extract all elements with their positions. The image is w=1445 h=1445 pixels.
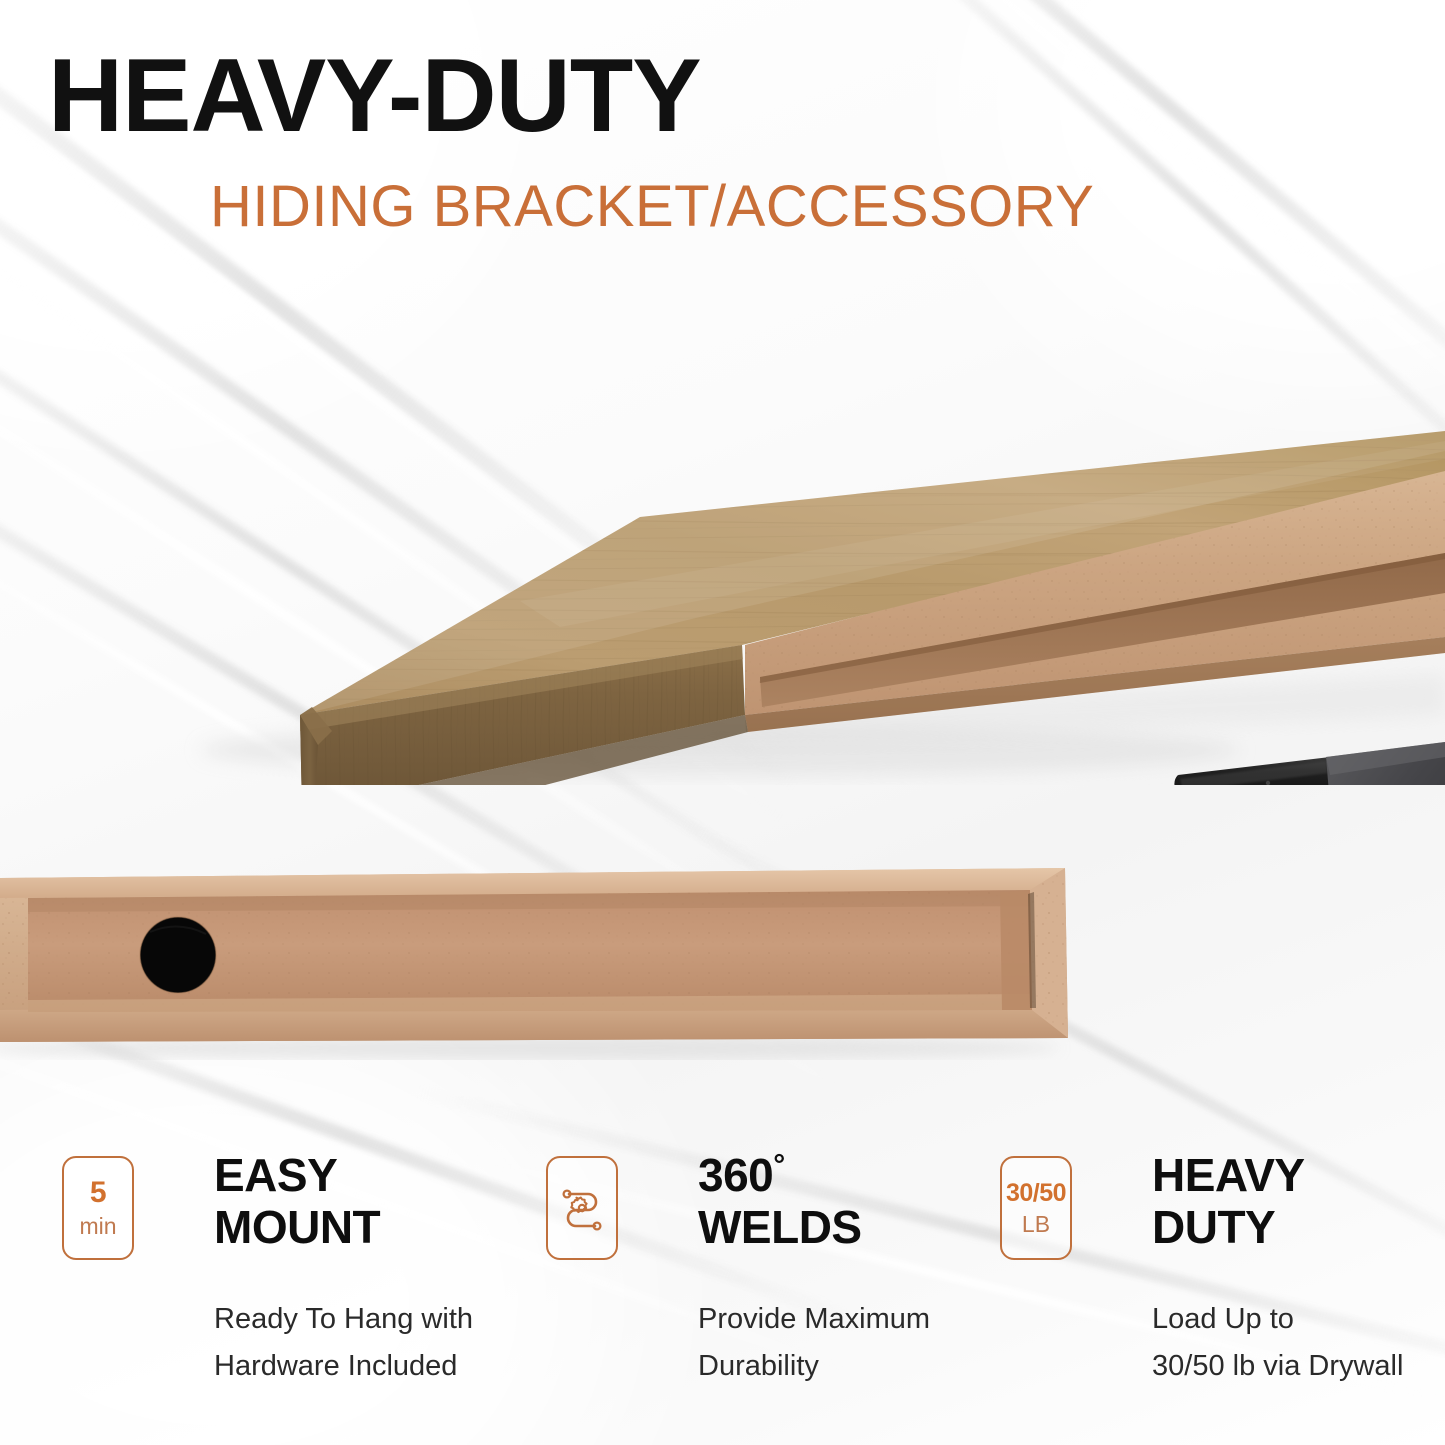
- page-subtitle: HIDING BRACKET/ACCESSORY: [210, 178, 1094, 236]
- badge-sub-value: min: [79, 1215, 116, 1238]
- page-title: HEAVY-DUTY: [48, 44, 701, 148]
- feature-easy-mount: 5 min EASY MOUNT Ready To Hang with Hard…: [62, 1148, 492, 1418]
- degree-symbol: °: [773, 1149, 785, 1182]
- weight-badge-icon: 30/50 LB: [1000, 1156, 1072, 1260]
- feature-description: Load Up to 30/50 lb via Drywall: [1152, 1296, 1403, 1390]
- feature-heading: 360°WELDS: [698, 1150, 862, 1253]
- badge-sub-value: LB: [1022, 1213, 1050, 1236]
- feature-heading: HEAVY DUTY: [1152, 1150, 1305, 1253]
- badge-main-value: 30/50: [1006, 1181, 1066, 1206]
- bracket-mounting-plate: [1326, 742, 1445, 785]
- feature-heading: EASY MOUNT: [214, 1150, 380, 1253]
- feature-description: Provide Maximum Durability: [698, 1296, 930, 1390]
- bracket-rod: [1174, 757, 1342, 785]
- weld-path-icon: [546, 1156, 618, 1260]
- cross-section-illustration: [0, 860, 1445, 1060]
- feature-row: 5 min EASY MOUNT Ready To Hang with Hard…: [0, 1148, 1445, 1418]
- feature-description: Ready To Hang with Hardware Included: [214, 1296, 473, 1390]
- product-photo-cross-section: [0, 860, 1445, 1060]
- feature-heading-line2: WELDS: [698, 1201, 862, 1253]
- weld-path-glyph: [558, 1184, 606, 1232]
- shelf-illustration: [0, 245, 1445, 785]
- product-photo-angled-shelf: [0, 245, 1445, 785]
- badge-main-value: 5: [90, 1178, 106, 1208]
- timer-badge-icon: 5 min: [62, 1156, 134, 1260]
- feature-360-welds: 360°WELDS Provide Maximum Durability: [546, 1148, 976, 1418]
- feature-heavy-duty: 30/50 LB HEAVY DUTY Load Up to 30/50 lb …: [1000, 1148, 1430, 1418]
- product-infographic: HEAVY-DUTY HIDING BRACKET/ACCESSORY: [0, 0, 1445, 1445]
- feature-heading-value: 360: [698, 1149, 773, 1201]
